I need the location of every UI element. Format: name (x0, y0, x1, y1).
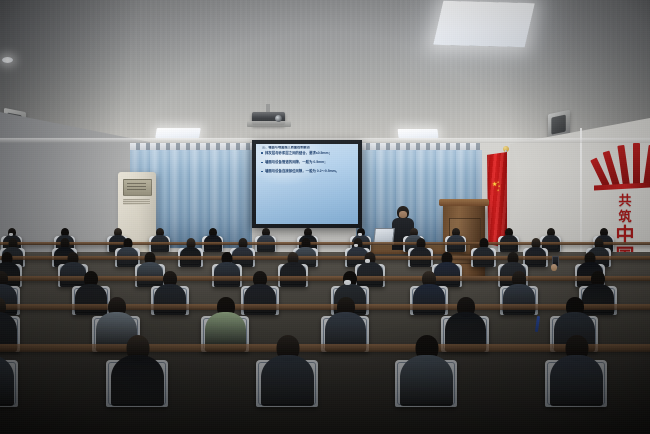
audience-torso (400, 355, 453, 406)
projection-screen-surface: 三、墙面与地面施工质量控制要点 抹灰层与砂浆层之间的结合，要求≤0.5mm； 墙… (256, 144, 358, 224)
audience-torso (154, 284, 186, 315)
audience-member (214, 252, 240, 287)
presenter-face (399, 211, 407, 218)
audience-member (0, 335, 14, 406)
audience-member (447, 228, 465, 252)
audience-member (151, 228, 169, 252)
slide-bullet-2: 墙面与设备管道的间隙，一般为 0.5mm； (261, 160, 355, 165)
ceiling-light-panel-left (155, 128, 201, 138)
audience-torso (413, 284, 445, 315)
raised-hand (551, 264, 557, 271)
audience-torso (0, 355, 14, 406)
audience-member (180, 238, 201, 267)
ac-vent-icon (123, 199, 150, 205)
wall-art-char-2: 筑 (618, 210, 631, 223)
speaker-grill-icon (551, 115, 565, 135)
flag-star-small: ★ (497, 188, 499, 194)
audience-torso (214, 262, 240, 287)
face-mask (358, 233, 362, 236)
audience-member (280, 252, 306, 287)
conference-room-photo: 三、墙面与地面施工质量控制要点 抹灰层与砂浆层之间的结合，要求≤0.5mm； 墙… (0, 0, 650, 434)
audience-member (525, 238, 546, 267)
audience-member (550, 335, 603, 406)
face-mask (9, 233, 13, 236)
audience-member (257, 228, 275, 252)
audience-member (111, 335, 164, 406)
audience-member (410, 238, 431, 267)
ceiling-light-panel-right (398, 129, 439, 138)
audience-member (400, 335, 453, 406)
audience-torso (550, 355, 603, 406)
podium-top (439, 199, 489, 206)
face-mask (365, 259, 370, 263)
slide-bullet-3: 墙面与设备连接部位间隙，一般为 0.2～0.5mm。 (261, 169, 355, 174)
wall-art-fan-icon (596, 142, 650, 186)
audience-torso (280, 262, 306, 287)
audience-torso (503, 284, 535, 315)
audience-torso (111, 355, 164, 406)
slide-bullet-list: 抹灰层与砂浆层之间的结合，要求≤0.5mm； 墙面与设备管道的间隙，一般为 0.… (261, 151, 355, 178)
projector-lens-icon (275, 115, 282, 122)
face-mask (354, 244, 358, 247)
audience-member (117, 238, 138, 267)
projector-mount-plate (247, 121, 291, 127)
face-mask (344, 280, 351, 285)
audience-desk (0, 242, 650, 245)
ceiling-light-panel-main (433, 1, 535, 47)
ceiling-downlight-icon (2, 57, 13, 63)
audience-torso (244, 284, 276, 315)
audience-member (473, 238, 494, 267)
slide-bullet-1: 抹灰层与砂浆层之间的结合，要求≤0.5mm； (261, 151, 355, 156)
audience-member (500, 228, 518, 252)
audience-member (261, 335, 314, 406)
audience-member (204, 228, 222, 252)
slide-title: 三、墙面与地面施工质量控制要点 (262, 146, 354, 150)
ceiling-projector (252, 112, 285, 125)
audience-torso (261, 355, 314, 406)
ac-control-panel (123, 179, 152, 196)
wall-art-char-1: 共 (618, 194, 631, 207)
projection-screen: 三、墙面与地面施工质量控制要点 抹灰层与砂浆层之间的结合，要求≤0.5mm； 墙… (252, 140, 362, 228)
